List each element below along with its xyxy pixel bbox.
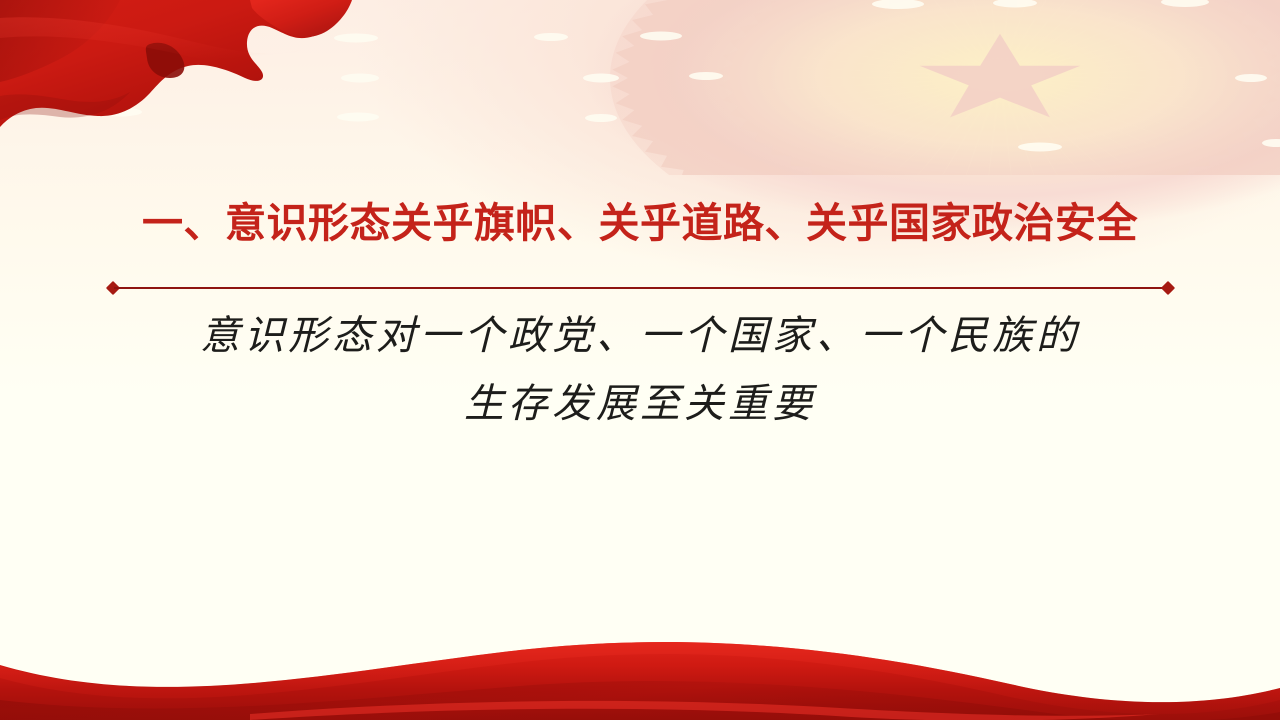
subtitle-line-1: 意识形态对一个政党、一个国家、一个民族的	[0, 302, 1280, 370]
emblem-sparkles	[0, 0, 1280, 152]
flag-bottom-shade	[0, 92, 130, 120]
wave-crest-highlight	[0, 642, 1280, 714]
wave-bright-streak	[250, 701, 1160, 720]
title-block: 一、意识形态关乎旗帜、关乎道路、关乎国家政治安全	[0, 196, 1280, 250]
page-title: 一、意识形态关乎旗帜、关乎道路、关乎国家政治安全	[0, 196, 1280, 250]
emblem-sunburst-rays	[750, 0, 1250, 195]
slide-canvas: 一、意识形态关乎旗帜、关乎道路、关乎国家政治安全 意识形态对一个政党、一个国家、…	[0, 0, 1280, 720]
divider-rule	[114, 287, 1167, 289]
wave-body	[0, 642, 1280, 720]
emblem-glow	[670, 0, 1280, 201]
flag-highlight	[0, 17, 300, 63]
wave-fold-shadow	[0, 681, 1280, 720]
flag-curl	[146, 43, 184, 78]
flag-fold-shadow	[0, 0, 120, 82]
section-divider	[108, 282, 1173, 294]
emblem-inner-ring	[719, 0, 1280, 210]
subtitle-block: 意识形态对一个政党、一个国家、一个民族的 生存发展至关重要	[0, 302, 1280, 438]
flag-main-panel	[0, 0, 372, 23]
flag-body	[0, 0, 352, 127]
divider-right-diamond-icon	[1161, 281, 1175, 295]
flag-right-lobe	[250, 0, 352, 37]
subtitle-line-2: 生存发展至关重要	[0, 370, 1280, 438]
emblem-star	[920, 34, 1081, 118]
